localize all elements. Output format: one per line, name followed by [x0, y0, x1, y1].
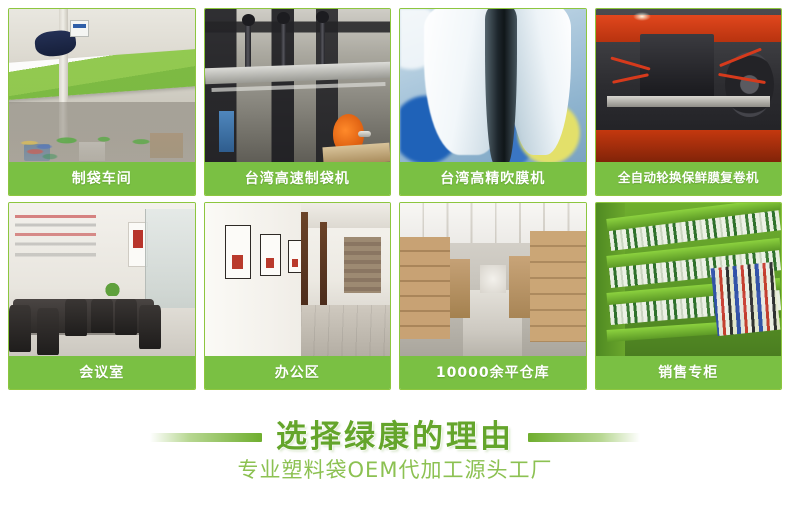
- card-caption-text: 台湾高精吹膜机: [440, 172, 545, 186]
- card-caption-bar: 全自动轮换保鲜膜复卷机: [596, 162, 782, 195]
- facility-gallery: 制袋车间 台湾高速制袋机: [8, 8, 782, 390]
- photo-bag-making-workshop: [9, 9, 195, 164]
- gallery-card[interactable]: 制袋车间: [8, 8, 196, 196]
- card-caption-bar: 会议室: [9, 356, 195, 389]
- page-subtitle: 专业塑料袋OEM代加工源头工厂: [0, 460, 790, 481]
- photo-office-area: [205, 203, 391, 358]
- card-caption-text: 制袋车间: [72, 172, 132, 186]
- card-caption-text: 10000余平仓库: [436, 366, 550, 380]
- card-caption-bar: 销售专柜: [596, 356, 782, 389]
- gallery-card[interactable]: 台湾高速制袋机: [204, 8, 392, 196]
- gallery-card[interactable]: 会议室: [8, 202, 196, 390]
- card-caption-bar: 制袋车间: [9, 162, 195, 195]
- card-caption-text: 台湾高速制袋机: [245, 172, 350, 186]
- photo-warehouse: [400, 203, 586, 358]
- photo-taiwan-precision-film-blowing-machine: [400, 9, 586, 164]
- gallery-card[interactable]: 10000余平仓库: [399, 202, 587, 390]
- decorative-rule-right-icon: [528, 433, 640, 442]
- card-caption-text: 会议室: [79, 366, 124, 380]
- gallery-card[interactable]: 办公区: [204, 202, 392, 390]
- gallery-card[interactable]: 台湾高精吹膜机: [399, 8, 587, 196]
- decorative-rule-left-icon: [150, 433, 262, 442]
- gallery-card[interactable]: 全自动轮换保鲜膜复卷机: [595, 8, 783, 196]
- promo-page: 制袋车间 台湾高速制袋机: [0, 0, 790, 528]
- gallery-card[interactable]: 销售专柜: [595, 202, 783, 390]
- card-caption-bar: 10000余平仓库: [400, 356, 586, 389]
- card-caption-bar: 台湾高速制袋机: [205, 162, 391, 195]
- photo-meeting-room: [9, 203, 195, 358]
- title-row: 选择绿康的理由: [0, 414, 790, 460]
- card-caption-bar: 台湾高精吹膜机: [400, 162, 586, 195]
- card-caption-text: 销售专柜: [658, 366, 718, 380]
- page-title: 选择绿康的理由: [276, 422, 514, 453]
- photo-taiwan-high-speed-bag-machine: [205, 9, 391, 164]
- photo-automatic-cling-film-rewinder: [596, 9, 782, 164]
- footer-heading-block: 选择绿康的理由 专业塑料袋OEM代加工源头工厂: [0, 396, 790, 528]
- photo-sales-counter: [596, 203, 782, 358]
- card-caption-text: 全自动轮换保鲜膜复卷机: [618, 172, 759, 185]
- card-caption-bar: 办公区: [205, 356, 391, 389]
- card-caption-text: 办公区: [275, 366, 320, 380]
